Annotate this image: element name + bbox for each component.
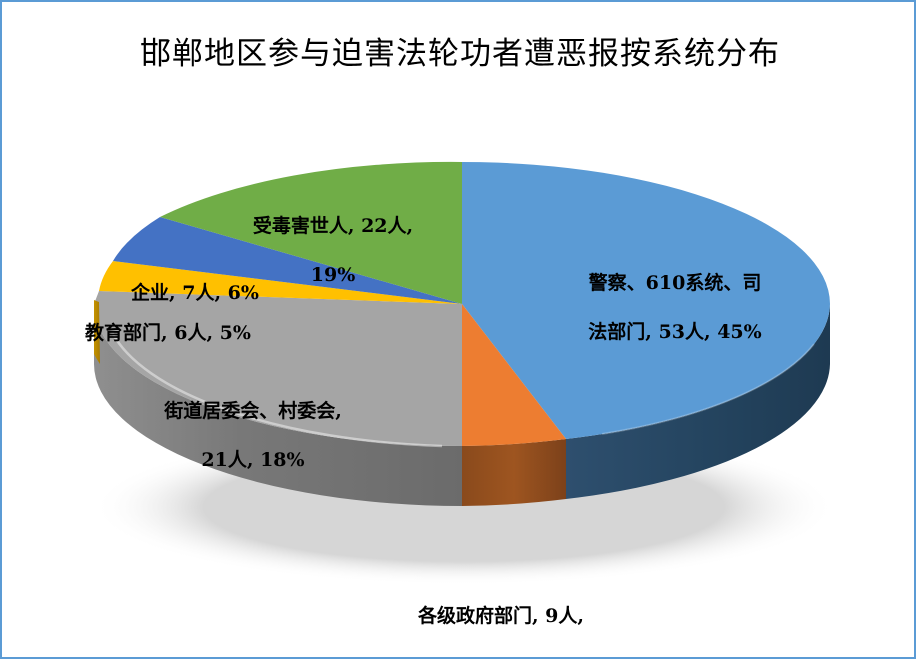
pie-label-line1: 警察、610系统、司	[525, 271, 825, 295]
pie-label-line1: 各级政府部门, 9人,	[381, 604, 621, 628]
pie-label-line2: 21人, 18%	[133, 448, 373, 472]
pie-label-line1: 街道居委会、村委会,	[133, 399, 373, 423]
pie-label-line2: 19%	[228, 263, 438, 287]
pie-label-police-610-judicial: 警察、610系统、司 法部门, 53人, 45%	[525, 247, 825, 369]
pie-label-government-departments: 各级政府部门, 9人, 7%	[381, 580, 621, 659]
chart-frame: 邯郸地区参与迫害法轮功者遭恶报按系统分布	[0, 0, 916, 659]
pie-side-wall-orange	[462, 439, 566, 506]
pie-label-line1: 受毒害世人, 22人,	[228, 214, 438, 238]
pie-label-line2: 7%	[381, 653, 621, 659]
pie-label-poisoned-public: 受毒害世人, 22人, 19%	[228, 190, 438, 312]
pie-label-line2: 法部门, 53人, 45%	[525, 320, 825, 344]
pie-label-street-village-committee: 街道居委会、村委会, 21人, 18%	[133, 375, 373, 497]
